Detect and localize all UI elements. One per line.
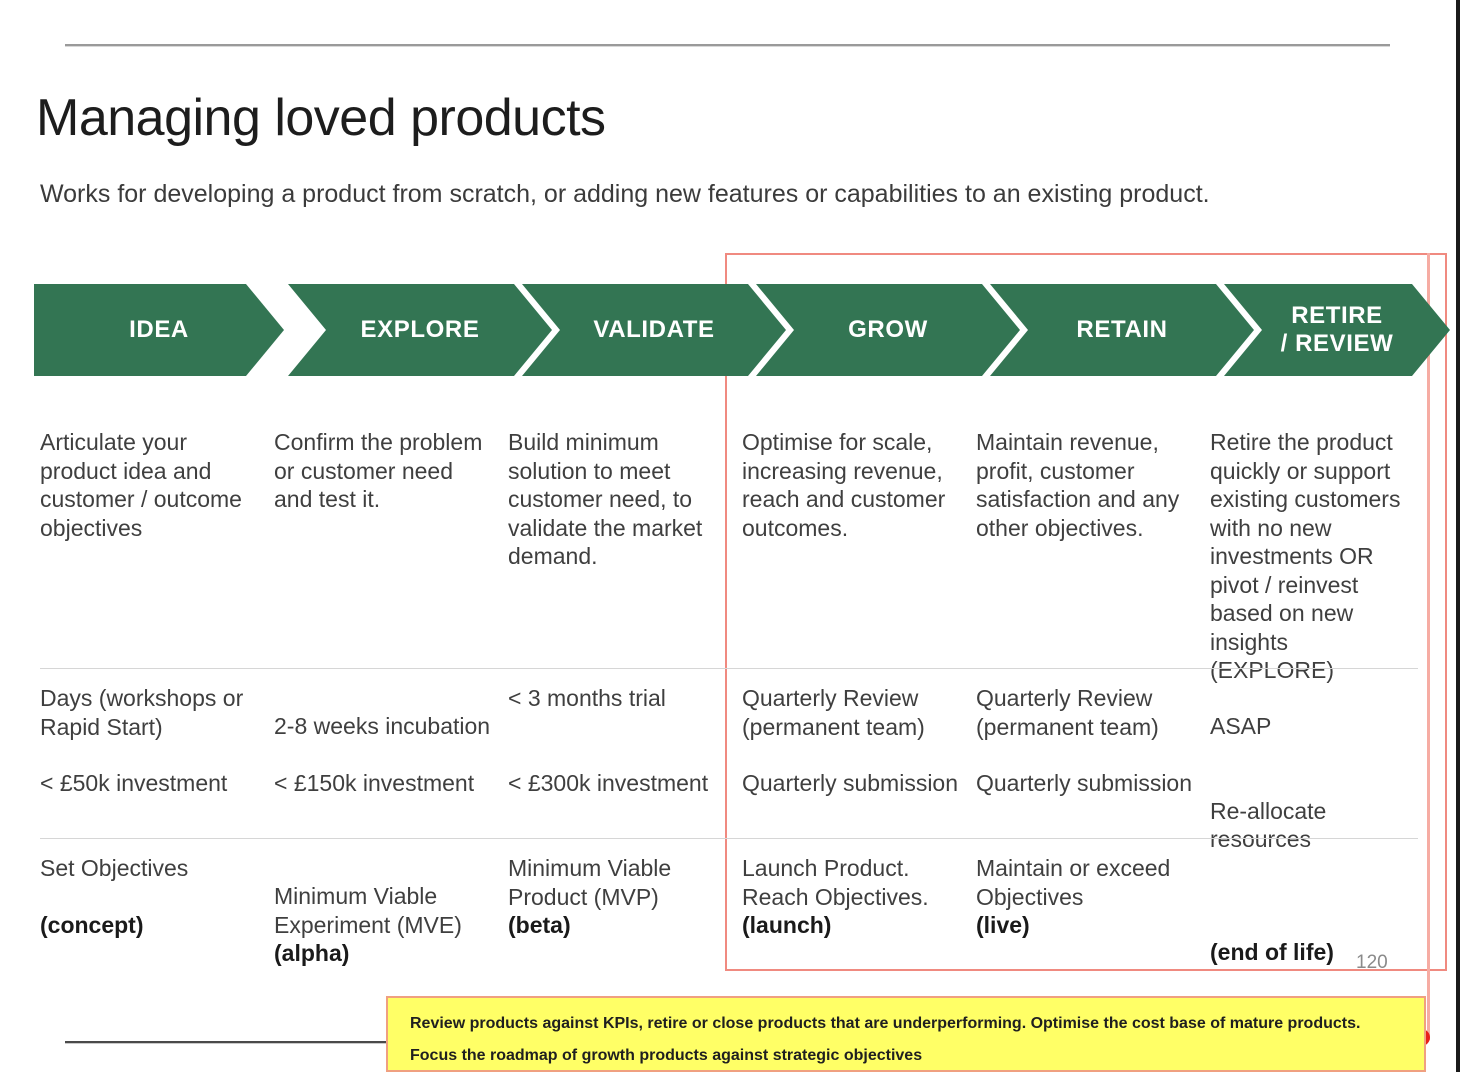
- stage-label-explore: EXPLORE: [361, 316, 480, 344]
- timing-validate-gap2: [508, 741, 730, 769]
- timing-retire-primary: ASAP: [1210, 713, 1271, 739]
- page-subtitle: Works for developing a product from scra…: [40, 178, 1210, 210]
- timing-grow-secondary: Quarterly submission: [742, 770, 958, 796]
- outcome-retire-tag: (end of life): [1210, 939, 1334, 965]
- stage-chevron-validate[interactable]: VALIDATE: [522, 284, 786, 376]
- timing-retain-secondary: Quarterly submission: [976, 770, 1192, 796]
- desc-cell-retain: Maintain revenue, profit, customer satis…: [976, 376, 1210, 668]
- timing-retain-primary: Quarterly Review (permanent team): [976, 685, 1159, 740]
- stage-label-retain: RETAIN: [1076, 316, 1167, 344]
- stage-label-validate: VALIDATE: [593, 316, 714, 344]
- outcome-cell-retain: Maintain or exceed Objectives (live): [976, 838, 1210, 968]
- annotation-line-2: Focus the roadmap of growth products aga…: [410, 1046, 1404, 1065]
- outcome-explore-tag: (alpha): [274, 939, 496, 968]
- row-descriptions: Articulate your product idea and custome…: [0, 376, 1460, 668]
- timing-explore-gap: [274, 741, 496, 769]
- timing-cell-explore: 2-8 weeks incubation < £150k investment: [274, 668, 508, 838]
- timing-validate-gap: [508, 713, 730, 741]
- stage-chevron-retain[interactable]: RETAIN: [990, 284, 1254, 376]
- desc-cell-explore: Confirm the problem or customer need and…: [274, 376, 508, 668]
- outcome-idea-text: Set Objectives: [40, 855, 188, 881]
- annotation-callout[interactable]: Review products against KPIs, retire or …: [386, 996, 1426, 1072]
- header-divider: [65, 44, 1390, 46]
- timing-cell-retire-review: ASAP Re-allocate resources: [1210, 668, 1430, 838]
- timing-explore-secondary: < £150k investment: [274, 770, 474, 796]
- outcome-cell-grow: Launch Product. Reach Objectives. (launc…: [742, 838, 976, 968]
- outcome-idea-gap: [40, 883, 262, 911]
- stage-chevron-idea[interactable]: IDEA: [34, 284, 284, 376]
- outcome-explore-text: Minimum Viable Experiment (MVE): [274, 883, 462, 938]
- outcome-cell-explore: Minimum Viable Experiment (MVE) (alpha): [274, 838, 508, 968]
- stage-chevron-grow[interactable]: GROW: [756, 284, 1020, 376]
- desc-cell-idea: Articulate your product idea and custome…: [40, 376, 274, 668]
- page-number: 120: [1356, 952, 1388, 974]
- annotation-line-1: Review products against KPIs, retire or …: [410, 1014, 1404, 1033]
- desc-cell-validate: Build minimum solution to meet customer …: [508, 376, 742, 668]
- outcome-cell-retire-review: (end of life): [1210, 838, 1430, 968]
- timing-validate-secondary: < £300k investment: [508, 770, 708, 796]
- outcome-retain-tag: (live): [976, 911, 1198, 940]
- desc-cell-grow: Optimise for scale, increasing revenue, …: [742, 376, 976, 668]
- timing-retain-gap: [976, 741, 1198, 769]
- timing-cell-validate: < 3 months trial < £300k investment: [508, 668, 742, 838]
- stage-label-retire-review: RETIRE / REVIEW: [1281, 302, 1394, 358]
- timing-cell-retain: Quarterly Review (permanent team) Quarte…: [976, 668, 1210, 838]
- stage-chevron-retire-review[interactable]: RETIRE / REVIEW: [1224, 284, 1450, 376]
- page-title: Managing loved products: [36, 88, 606, 148]
- desc-cell-retire-review: Retire the product quickly or support ex…: [1210, 376, 1430, 668]
- outcome-cell-idea: Set Objectives (concept): [40, 838, 274, 968]
- stage-detail-grid: Articulate your product idea and custome…: [0, 376, 1460, 968]
- timing-idea-secondary: < £50k investment: [40, 770, 227, 796]
- timing-explore-primary: 2-8 weeks incubation: [274, 713, 490, 739]
- timing-cell-idea: Days (workshops or Rapid Start) < £50k i…: [40, 668, 274, 838]
- timing-grow-gap: [742, 741, 964, 769]
- stage-label-idea: IDEA: [129, 316, 189, 344]
- timing-cell-grow: Quarterly Review (permanent team) Quarte…: [742, 668, 976, 838]
- timing-retire-gap2: [1210, 769, 1418, 797]
- row-timing: Days (workshops or Rapid Start) < £50k i…: [0, 668, 1460, 838]
- outcome-grow-tag: (launch): [742, 911, 964, 940]
- timing-grow-primary: Quarterly Review (permanent team): [742, 685, 925, 740]
- row-outcomes: Set Objectives (concept) Minimum Viable …: [0, 838, 1460, 968]
- outcome-validate-text: Minimum Viable Product (MVP): [508, 855, 671, 910]
- outcome-idea-tag: (concept): [40, 912, 144, 938]
- timing-validate-primary: < 3 months trial: [508, 685, 666, 711]
- process-stage-band: IDEA EXPLORE VALIDATE GROW RETAIN RETIRE…: [34, 284, 1450, 376]
- outcome-cell-validate: Minimum Viable Product (MVP) (beta): [508, 838, 742, 968]
- stage-label-grow: GROW: [848, 316, 928, 344]
- timing-idea-primary: Days (workshops or Rapid Start): [40, 685, 243, 740]
- outcome-validate-tag: (beta): [508, 911, 730, 940]
- outcome-retain-text: Maintain or exceed Objectives: [976, 855, 1170, 910]
- timing-retire-gap: [1210, 741, 1418, 769]
- slide-canvas: Managing loved products Works for develo…: [0, 0, 1460, 1072]
- timing-idea-gap: [40, 741, 262, 769]
- outcome-grow-text: Launch Product. Reach Objectives.: [742, 855, 929, 910]
- stage-chevron-explore[interactable]: EXPLORE: [288, 284, 552, 376]
